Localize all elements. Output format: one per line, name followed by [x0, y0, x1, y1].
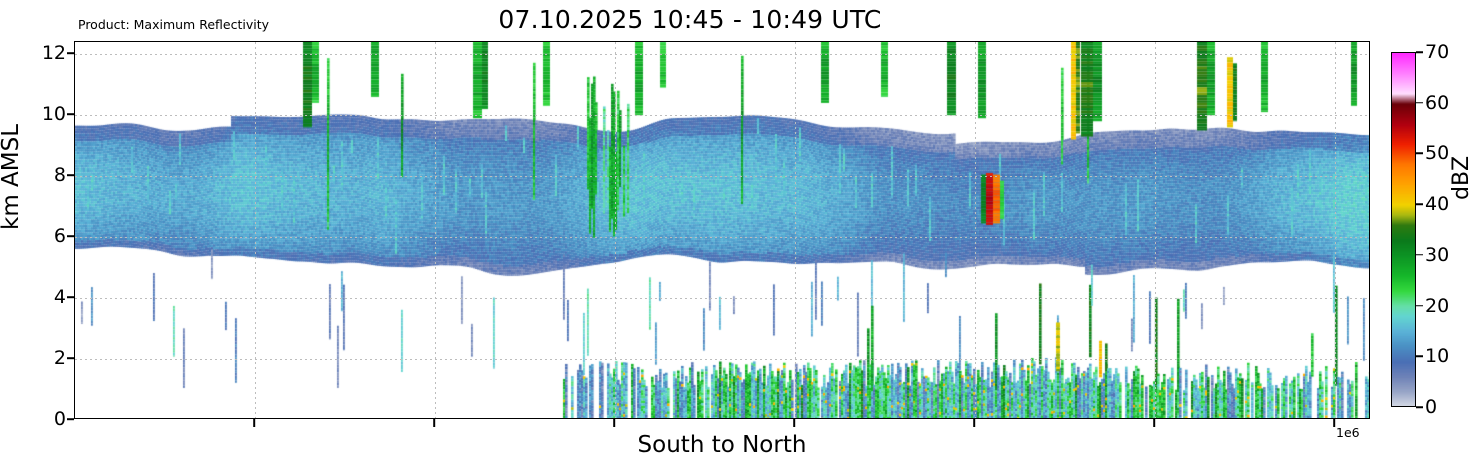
colorbar-tick-mark: [1416, 356, 1423, 358]
y-tick-mark: [67, 418, 74, 420]
colorbar-tick-label: 70: [1425, 41, 1449, 63]
x-tick-mark: [613, 419, 615, 427]
y-tick-label: 12: [42, 42, 66, 64]
y-tick-mark: [67, 235, 74, 237]
y-tick-label: 4: [54, 286, 66, 308]
x-tick-mark: [253, 419, 255, 427]
colorbar-tick-mark: [1416, 51, 1423, 53]
y-tick-label: 8: [54, 164, 66, 186]
colorbar-tick-mark: [1416, 153, 1423, 155]
x-tick-mark: [793, 419, 795, 427]
x-axis-offset-text: 1e6: [1336, 425, 1360, 440]
colorbar-label: dBZ: [1449, 156, 1474, 200]
y-tick-mark: [67, 296, 74, 298]
colorbar-tick-label: 60: [1425, 92, 1449, 114]
x-tick-mark: [1153, 419, 1155, 427]
y-tick-mark: [67, 52, 74, 54]
y-tick-mark: [67, 113, 74, 115]
colorbar-tick-mark: [1416, 203, 1423, 205]
plot-area[interactable]: [74, 41, 1370, 419]
y-tick-label: 10: [42, 103, 66, 125]
colorbar-tick-mark: [1416, 254, 1423, 256]
colorbar-gradient: [1392, 53, 1416, 407]
reflectivity-heatmap-canvas: [75, 42, 1370, 419]
colorbar-tick-label: 10: [1425, 345, 1449, 367]
y-tick-label: 2: [54, 347, 66, 369]
colorbar[interactable]: [1391, 52, 1416, 407]
y-axis-label: km AMSL: [0, 124, 24, 230]
colorbar-tick-mark: [1416, 406, 1423, 408]
colorbar-tick-label: 0: [1425, 396, 1437, 418]
y-tick-mark: [67, 357, 74, 359]
x-tick-mark: [1333, 419, 1335, 427]
x-tick-mark: [433, 419, 435, 427]
colorbar-tick-mark: [1416, 305, 1423, 307]
colorbar-tick-label: 20: [1425, 295, 1449, 317]
radar-curtain-figure: 07.10.2025 10:45 - 10:49 UTC Product: Ma…: [0, 0, 1482, 470]
colorbar-tick-label: 40: [1425, 193, 1449, 215]
colorbar-tick-mark: [1416, 102, 1423, 104]
product-annotation: Product: Maximum Reflectivity: [78, 17, 269, 32]
y-tick-mark: [67, 174, 74, 176]
colorbar-tick-label: 30: [1425, 244, 1449, 266]
colorbar-tick-label: 50: [1425, 142, 1449, 164]
y-tick-label: 0: [54, 408, 66, 430]
x-tick-mark: [973, 419, 975, 427]
y-tick-label: 6: [54, 225, 66, 247]
x-axis-label: South to North: [74, 432, 1370, 458]
